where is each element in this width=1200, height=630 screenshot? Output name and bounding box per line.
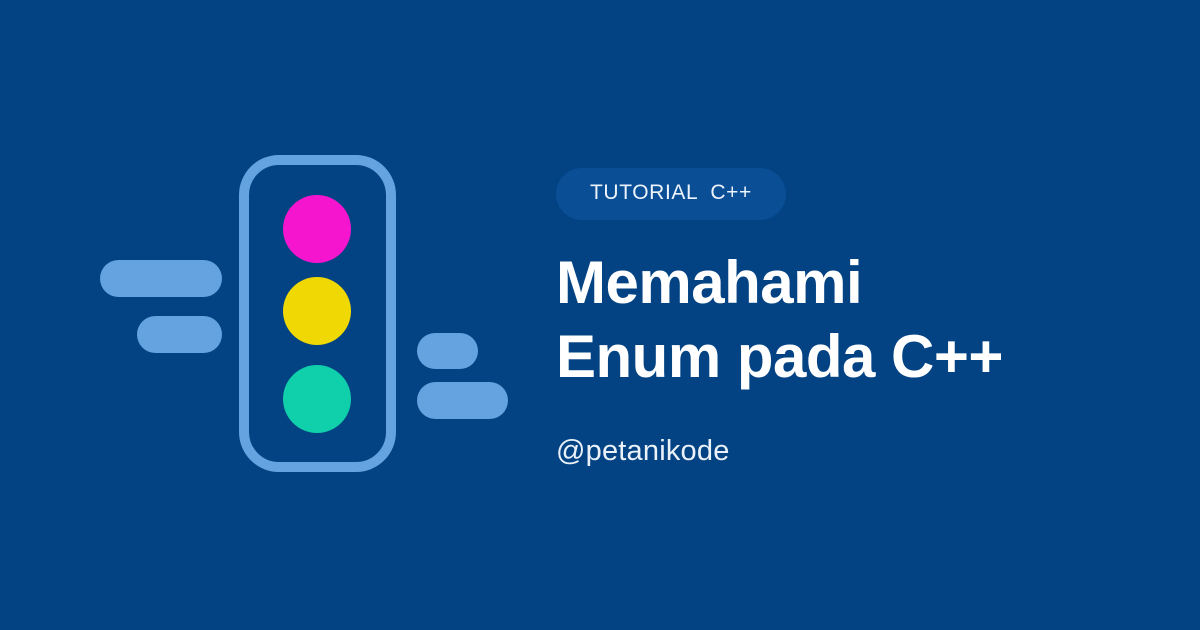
- page-title-line-2: Enum pada C++: [556, 320, 1156, 394]
- speed-bar-right-bottom: [417, 382, 508, 419]
- speed-bar-left-top: [100, 260, 222, 297]
- category-badge: TUTORIAL C++: [556, 168, 786, 220]
- category-badge-label: TUTORIAL C++: [590, 181, 752, 205]
- page-title-line-1: Memahami: [556, 246, 1156, 320]
- page-title: Memahami Enum pada C++: [556, 246, 1156, 395]
- red-lamp-icon: [283, 195, 351, 263]
- author-handle: @petanikode: [556, 435, 1156, 468]
- green-lamp-icon: [283, 365, 351, 433]
- speed-bar-right-top: [417, 333, 478, 369]
- content-column: TUTORIAL C++ Memahami Enum pada C++ @pet…: [556, 168, 1156, 468]
- cover-card: TUTORIAL C++ Memahami Enum pada C++ @pet…: [0, 0, 1200, 630]
- yellow-lamp-icon: [283, 277, 351, 345]
- speed-bar-left-bottom: [137, 316, 222, 353]
- traffic-light-illustration: [0, 0, 540, 630]
